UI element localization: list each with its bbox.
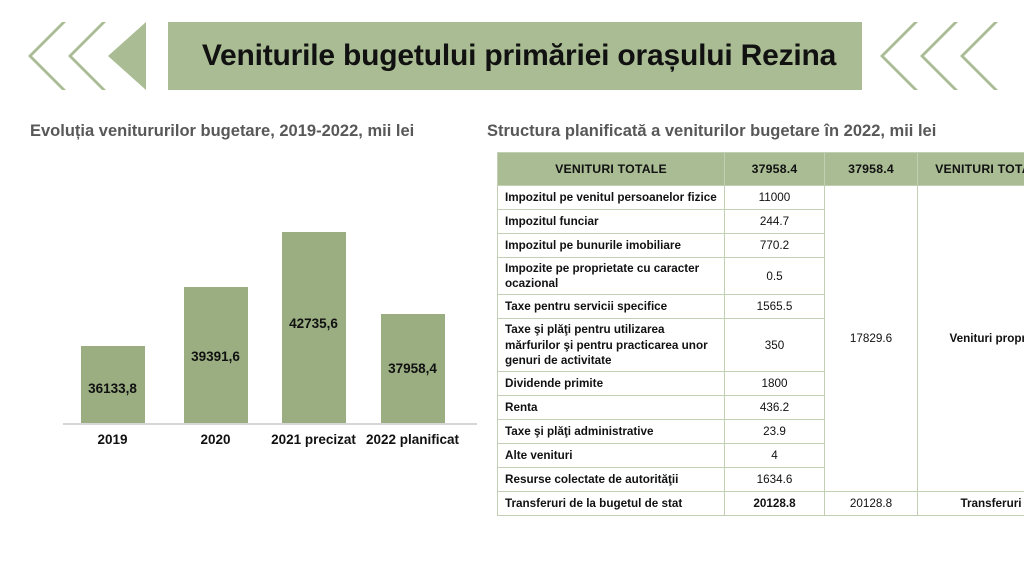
double-chevron-left-icon [880,22,918,90]
row-value: 244.7 [725,210,825,234]
group-own-value: 17829.6 [825,186,918,492]
row-name: Dividende primite [498,372,725,396]
group-own-label: Venituri proprii [918,186,1024,492]
category-label: 2022 planificat [366,432,459,447]
bar-slot: 36133,8 2019 [60,210,165,424]
transfer-group-label: Transferuri [918,492,1024,516]
bar-slot: 37958,4 2022 planificat [360,210,465,424]
left-chevron-group [28,22,148,90]
double-chevron-left-icon [28,22,66,90]
row-name: Renta [498,396,725,420]
revenue-structure-table: VENITURI TOTALE 37958.4 37958.4 VENITURI… [497,152,1024,516]
row-name: Impozitul pe bunurile imobiliare [498,234,725,258]
header-total-name: VENITURI TOTALE [498,153,725,186]
category-label: 2021 precizat [271,432,356,447]
row-value: 1565.5 [725,295,825,319]
header-total-value: 37958.4 [725,153,825,186]
table-header-row: VENITURI TOTALE 37958.4 37958.4 VENITURI… [498,153,1024,186]
row-value: 350 [725,319,825,372]
bar-value-label: 39391,6 [191,349,240,364]
header-group-value: 37958.4 [825,153,918,186]
row-value: 4 [725,444,825,468]
bar-slot: 42735,6 2021 precizat [261,210,366,424]
row-value: 770.2 [725,234,825,258]
row-name: Taxe şi plăţi administrative [498,420,725,444]
chart-plot-area: 36133,8 2019 39391,6 2020 42735,6 2021 p… [60,210,480,424]
bar-value-label: 42735,6 [289,316,338,331]
table-row: Impozitul pe venitul persoanelor fizice … [498,186,1024,210]
bar-value-label: 37958,4 [388,361,437,376]
table-row-transfers: Transferuri de la bugetul de stat 20128.… [498,492,1024,516]
row-name: Impozite pe proprietate cu caracter ocaz… [498,258,725,295]
row-value: 436.2 [725,396,825,420]
transfer-row-name: Transferuri de la bugetul de stat [498,492,725,516]
row-name: Impozitul funciar [498,210,725,234]
double-chevron-left-icon [68,22,106,90]
chart-baseline-axis [63,423,477,425]
table-subtitle: Structura planificată a veniturilor buge… [487,122,936,141]
row-value: 11000 [725,186,825,210]
row-name: Resurse colectate de autorităţii [498,468,725,492]
row-name: Taxe pentru servicii specifice [498,295,725,319]
row-name: Impozitul pe venitul persoanelor fizice [498,186,725,210]
category-label: 2020 [200,432,230,447]
row-name: Taxe şi plăţi pentru utilizarea mărfuril… [498,319,725,372]
bar-value-label: 36133,8 [88,381,137,396]
double-chevron-left-icon [960,22,998,90]
page-title: Veniturile bugetului primăriei orașului … [178,22,860,90]
header-group-name: VENITURI TOTALE [918,153,1024,186]
chevron-left-icon [108,22,146,90]
row-value: 0.5 [725,258,825,295]
transfer-row-value: 20128.8 [725,492,825,516]
category-label: 2019 [97,432,127,447]
row-name: Alte venituri [498,444,725,468]
row-value: 23.9 [725,420,825,444]
chart-subtitle: Evoluția venitururilor bugetare, 2019-20… [30,122,414,141]
row-value: 1800 [725,372,825,396]
double-chevron-left-icon [920,22,958,90]
row-value: 1634.6 [725,468,825,492]
title-banner: Veniturile bugetului primăriei orașului … [28,22,1000,90]
revenue-bar-chart: 36133,8 2019 39391,6 2020 42735,6 2021 p… [60,210,480,460]
bar-slot: 39391,6 2020 [163,210,268,424]
right-chevron-group [880,22,1000,90]
transfer-group-value: 20128.8 [825,492,918,516]
